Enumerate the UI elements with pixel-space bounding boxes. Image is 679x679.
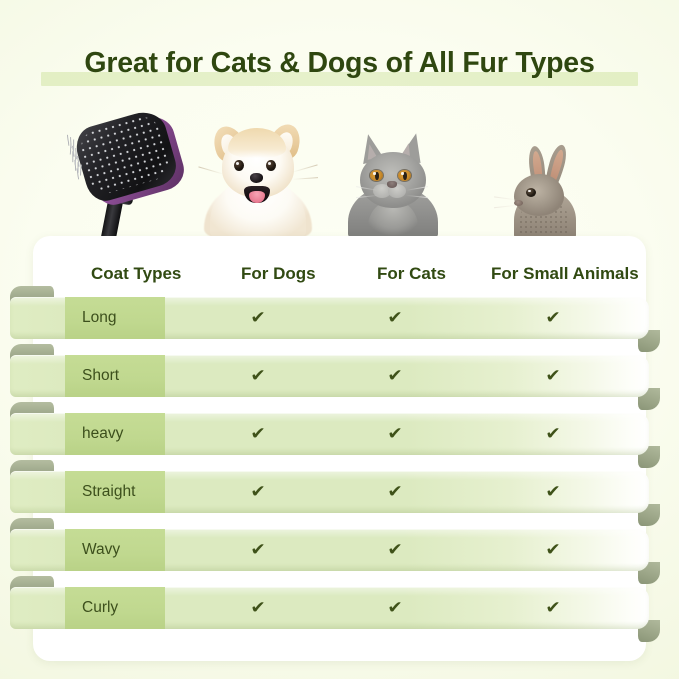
coat-type-label: Curly xyxy=(82,587,118,629)
rabbit-eye xyxy=(526,188,536,197)
column-header-0: Coat Types xyxy=(91,254,181,294)
check-icon: ✔ xyxy=(250,413,265,455)
check-icon: ✔ xyxy=(387,355,402,397)
check-icon: ✔ xyxy=(250,355,265,397)
page-title-container: Great for Cats & Dogs of All Fur Types xyxy=(0,41,679,87)
coat-type-label: Long xyxy=(82,297,116,339)
table-body: Long✔✔✔Short✔✔✔heavy✔✔✔Straight✔✔✔Wavy✔✔… xyxy=(0,297,679,637)
check-icon: ✔ xyxy=(387,471,402,513)
coat-type-label: Wavy xyxy=(82,529,120,571)
table-header-row: Coat TypesFor DogsFor CatsFor Small Anim… xyxy=(33,254,646,294)
brush-bristle xyxy=(77,168,80,179)
cat-nose xyxy=(387,181,397,188)
cat-head xyxy=(360,152,426,208)
table-row: Short✔✔✔ xyxy=(10,355,649,397)
dog-whisker xyxy=(198,166,223,174)
brush-bristle xyxy=(70,143,72,154)
check-icon: ✔ xyxy=(387,587,402,629)
dog-nose xyxy=(250,173,263,183)
rabbit-head xyxy=(514,174,564,216)
slicker-brush-icon xyxy=(64,110,194,240)
check-icon: ✔ xyxy=(387,413,402,455)
brush-bristle xyxy=(80,164,82,175)
check-icon: ✔ xyxy=(545,355,560,397)
check-icon: ✔ xyxy=(387,297,402,339)
table-row: Wavy✔✔✔ xyxy=(10,529,649,571)
dog-whisker xyxy=(292,164,317,172)
check-icon: ✔ xyxy=(250,587,265,629)
check-icon: ✔ xyxy=(387,529,402,571)
brush-bristle xyxy=(73,152,74,163)
check-icon: ✔ xyxy=(250,471,265,513)
column-header-1: For Dogs xyxy=(241,254,316,294)
table-row: heavy✔✔✔ xyxy=(10,413,649,455)
column-header-3: For Small Animals xyxy=(491,254,639,294)
table-row: Straight✔✔✔ xyxy=(10,471,649,513)
check-icon: ✔ xyxy=(250,529,265,571)
infographic-stage: Great for Cats & Dogs of All Fur Types xyxy=(0,0,679,679)
check-icon: ✔ xyxy=(545,471,560,513)
cat-icon xyxy=(340,130,446,240)
check-icon: ✔ xyxy=(545,297,560,339)
dog-pomeranian-icon xyxy=(196,116,320,240)
dog-eye-left xyxy=(234,160,244,171)
table-row: Long✔✔✔ xyxy=(10,297,649,339)
hero-image-row xyxy=(0,108,679,240)
cat-eye-right xyxy=(398,170,411,181)
check-icon: ✔ xyxy=(545,413,560,455)
page-title: Great for Cats & Dogs of All Fur Types xyxy=(84,41,594,85)
coat-type-label: heavy xyxy=(82,413,123,455)
table-row: Curly✔✔✔ xyxy=(10,587,649,629)
check-icon: ✔ xyxy=(545,529,560,571)
dog-whisker xyxy=(292,177,318,180)
column-header-2: For Cats xyxy=(377,254,446,294)
rabbit-icon xyxy=(500,128,596,240)
check-icon: ✔ xyxy=(545,587,560,629)
rabbit-whisker xyxy=(494,205,518,209)
coat-type-label: Short xyxy=(82,355,119,397)
cat-eye-left xyxy=(370,170,383,181)
dog-tongue xyxy=(249,191,265,203)
coat-type-label: Straight xyxy=(82,471,135,513)
check-icon: ✔ xyxy=(250,297,265,339)
dog-eye-right xyxy=(266,160,276,171)
